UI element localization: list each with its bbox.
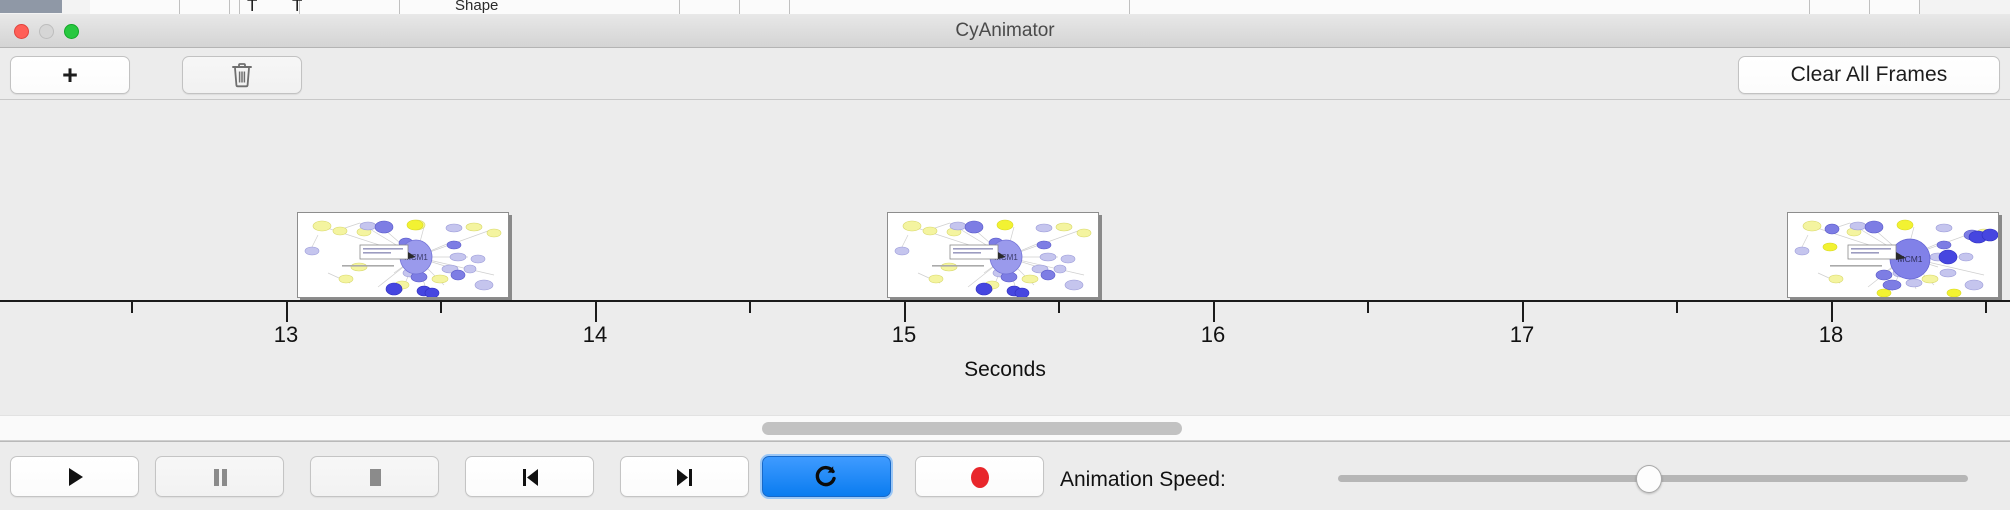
axis-tick-minor (1367, 302, 1369, 313)
axis-tick-label: 16 (1201, 322, 1225, 348)
plus-icon: + (62, 62, 78, 89)
background-cell (180, 0, 230, 14)
background-cell (1130, 0, 1810, 14)
background-window-strip: T T Shape (0, 0, 2010, 14)
axis-tick-major (1831, 302, 1833, 322)
background-cell (90, 0, 180, 14)
background-window-selected-cell (0, 0, 62, 13)
background-cell (680, 0, 740, 14)
loop-button[interactable] (762, 456, 891, 497)
skip-back-icon (517, 464, 543, 490)
axis-tick-minor (440, 302, 442, 313)
trash-icon (231, 62, 253, 88)
axis-tick-label: 18 (1819, 322, 1843, 348)
axis-tick-major (286, 302, 288, 322)
record-icon (967, 464, 993, 490)
background-cell (400, 0, 680, 14)
next-button[interactable] (620, 456, 749, 497)
axis-tick-label: 17 (1510, 322, 1534, 348)
clear-all-frames-button[interactable]: Clear All Frames (1738, 56, 2000, 94)
axis-tick-major (1213, 302, 1215, 322)
pause-icon (207, 464, 233, 490)
axis-tick-label: 13 (274, 322, 298, 348)
add-frame-button[interactable]: + (10, 56, 130, 94)
background-cell (230, 0, 240, 14)
stop-button[interactable] (310, 456, 439, 497)
axis-tick-label: 15 (892, 322, 916, 348)
background-cell (740, 0, 790, 14)
background-cell (1870, 0, 1920, 14)
background-cell (790, 0, 1130, 14)
axis-tick-minor (749, 302, 751, 313)
transport-bar: Animation Speed: (0, 441, 2010, 510)
axis-tick-minor (1676, 302, 1678, 313)
axis-tick-major (904, 302, 906, 322)
keyframe-thumbnail[interactable]: MCM1 (887, 212, 1099, 298)
keyframe-thumbnail[interactable]: MCM1 (1787, 212, 1999, 298)
axis-tick-minor (131, 302, 133, 313)
background-glyph: T (247, 0, 257, 14)
background-window-label: Shape (455, 0, 498, 14)
axis-tick-label: 14 (583, 322, 607, 348)
cyanimator-window: T T Shape CyAnimator + Clear All Frames (0, 0, 2010, 510)
record-button[interactable] (915, 456, 1044, 497)
skip-fwd-icon (672, 464, 698, 490)
background-cell (300, 0, 400, 14)
axis-tick-major (595, 302, 597, 322)
timeline-scrollbar[interactable] (0, 415, 2010, 441)
scrollbar-thumb[interactable] (762, 422, 1182, 435)
animation-speed-label: Animation Speed: (1060, 468, 1226, 492)
delete-frame-button[interactable] (182, 56, 302, 94)
keyframe-track[interactable]: MCM1 (0, 100, 2010, 300)
toolbar: + Clear All Frames (0, 48, 2010, 100)
axis-tick-minor (1985, 302, 1987, 313)
title-bar: CyAnimator (0, 14, 2010, 48)
axis-title: Seconds (0, 358, 2010, 382)
axis-tick-major (1522, 302, 1524, 322)
background-cell (1810, 0, 1870, 14)
clear-all-frames-label: Clear All Frames (1791, 63, 1948, 87)
previous-button[interactable] (465, 456, 594, 497)
animation-speed-slider-thumb[interactable] (1636, 465, 1662, 493)
axis-tick-minor (1058, 302, 1060, 313)
timeline-panel[interactable]: MCM1 (0, 100, 2010, 415)
pause-button[interactable] (155, 456, 284, 497)
background-glyph: T (292, 0, 302, 14)
keyframe-thumbnail[interactable]: MCM1 (297, 212, 509, 298)
play-icon (62, 464, 88, 490)
window-title: CyAnimator (0, 14, 2010, 48)
stop-icon (362, 464, 388, 490)
play-button[interactable] (10, 456, 139, 497)
timeline-axis (0, 300, 2010, 302)
loop-icon (813, 463, 840, 490)
